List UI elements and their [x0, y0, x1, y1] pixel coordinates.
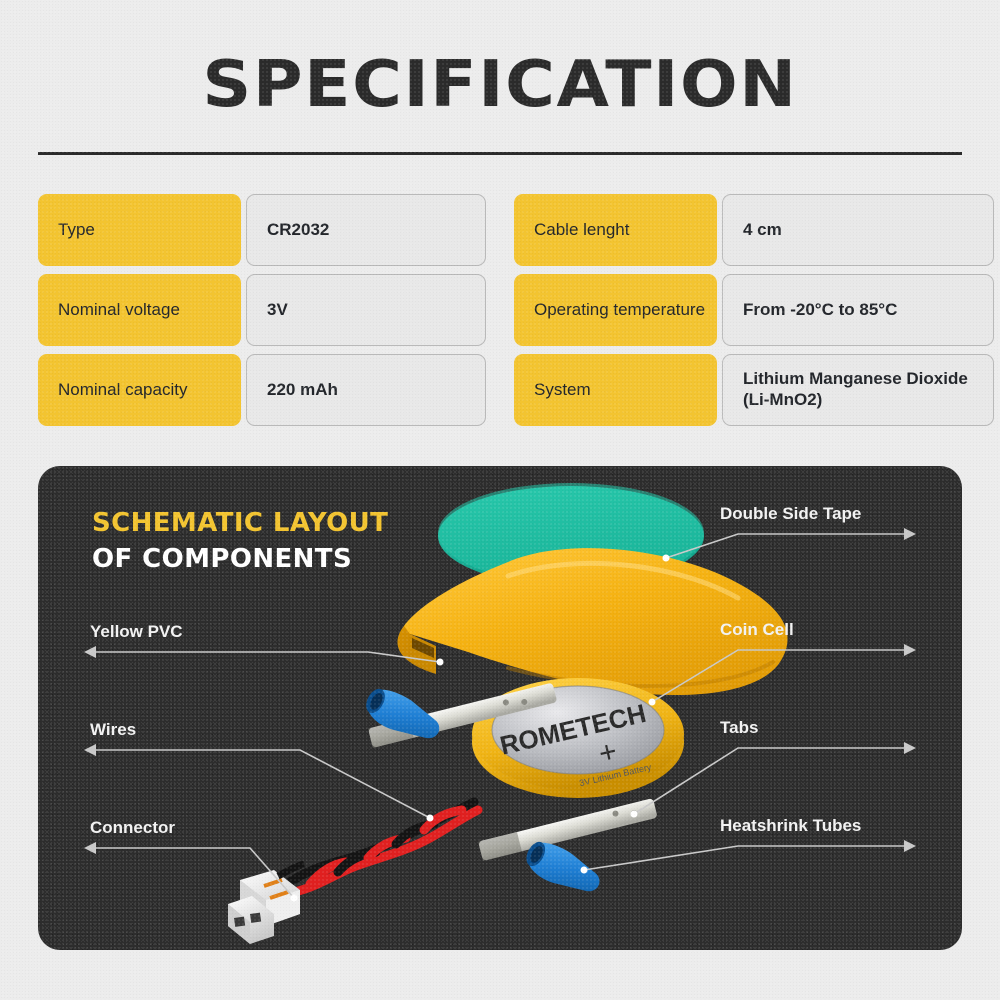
spec-column-left: Type CR2032 Nominal voltage 3V Nominal c… [38, 194, 486, 434]
spec-row: Operating temperature From -20°C to 85°C [514, 274, 962, 354]
spec-label-system: System [514, 354, 717, 426]
page-header: SPECIFICATION [0, 0, 1000, 175]
spec-label-nominal-capacity: Nominal capacity [38, 354, 241, 426]
spec-row: Nominal voltage 3V [38, 274, 486, 354]
spec-value-type: CR2032 [246, 194, 486, 266]
spec-row: Type CR2032 [38, 194, 486, 274]
spec-label-nominal-voltage: Nominal voltage [38, 274, 241, 346]
spec-row: Nominal capacity 220 mAh [38, 354, 486, 434]
callout-label-coin-cell: Coin Cell [720, 620, 794, 640]
callout-label-heatshrink-tubes: Heatshrink Tubes [720, 816, 861, 836]
callout-label-connector: Connector [90, 818, 175, 838]
spec-value-cable-length: 4 cm [722, 194, 994, 266]
callout-label-yellow-pvc: Yellow PVC [90, 622, 183, 642]
title-divider [38, 152, 962, 155]
page-title: SPECIFICATION [0, 48, 1000, 122]
callout-label-double-side-tape: Double Side Tape [720, 504, 861, 524]
spec-row: Cable lenght 4 cm [514, 194, 962, 274]
spec-row: System Lithium Manganese Dioxide (Li-MnO… [514, 354, 962, 434]
spec-column-right: Cable lenght 4 cm Operating temperature … [514, 194, 962, 434]
spec-label-cable-length: Cable lenght [514, 194, 717, 266]
spec-value-system: Lithium Manganese Dioxide (Li-MnO2) [722, 354, 994, 426]
spec-label-operating-temperature: Operating temperature [514, 274, 717, 346]
schematic-panel: ROMETECH + 3V Lithium Battery [38, 466, 962, 950]
callout-leader-lines [38, 466, 962, 950]
spec-value-operating-temperature: From -20°C to 85°C [722, 274, 994, 346]
spec-value-nominal-capacity: 220 mAh [246, 354, 486, 426]
spec-value-nominal-voltage: 3V [246, 274, 486, 346]
callout-label-wires: Wires [90, 720, 136, 740]
callout-label-tabs: Tabs [720, 718, 758, 738]
spec-label-type: Type [38, 194, 241, 266]
